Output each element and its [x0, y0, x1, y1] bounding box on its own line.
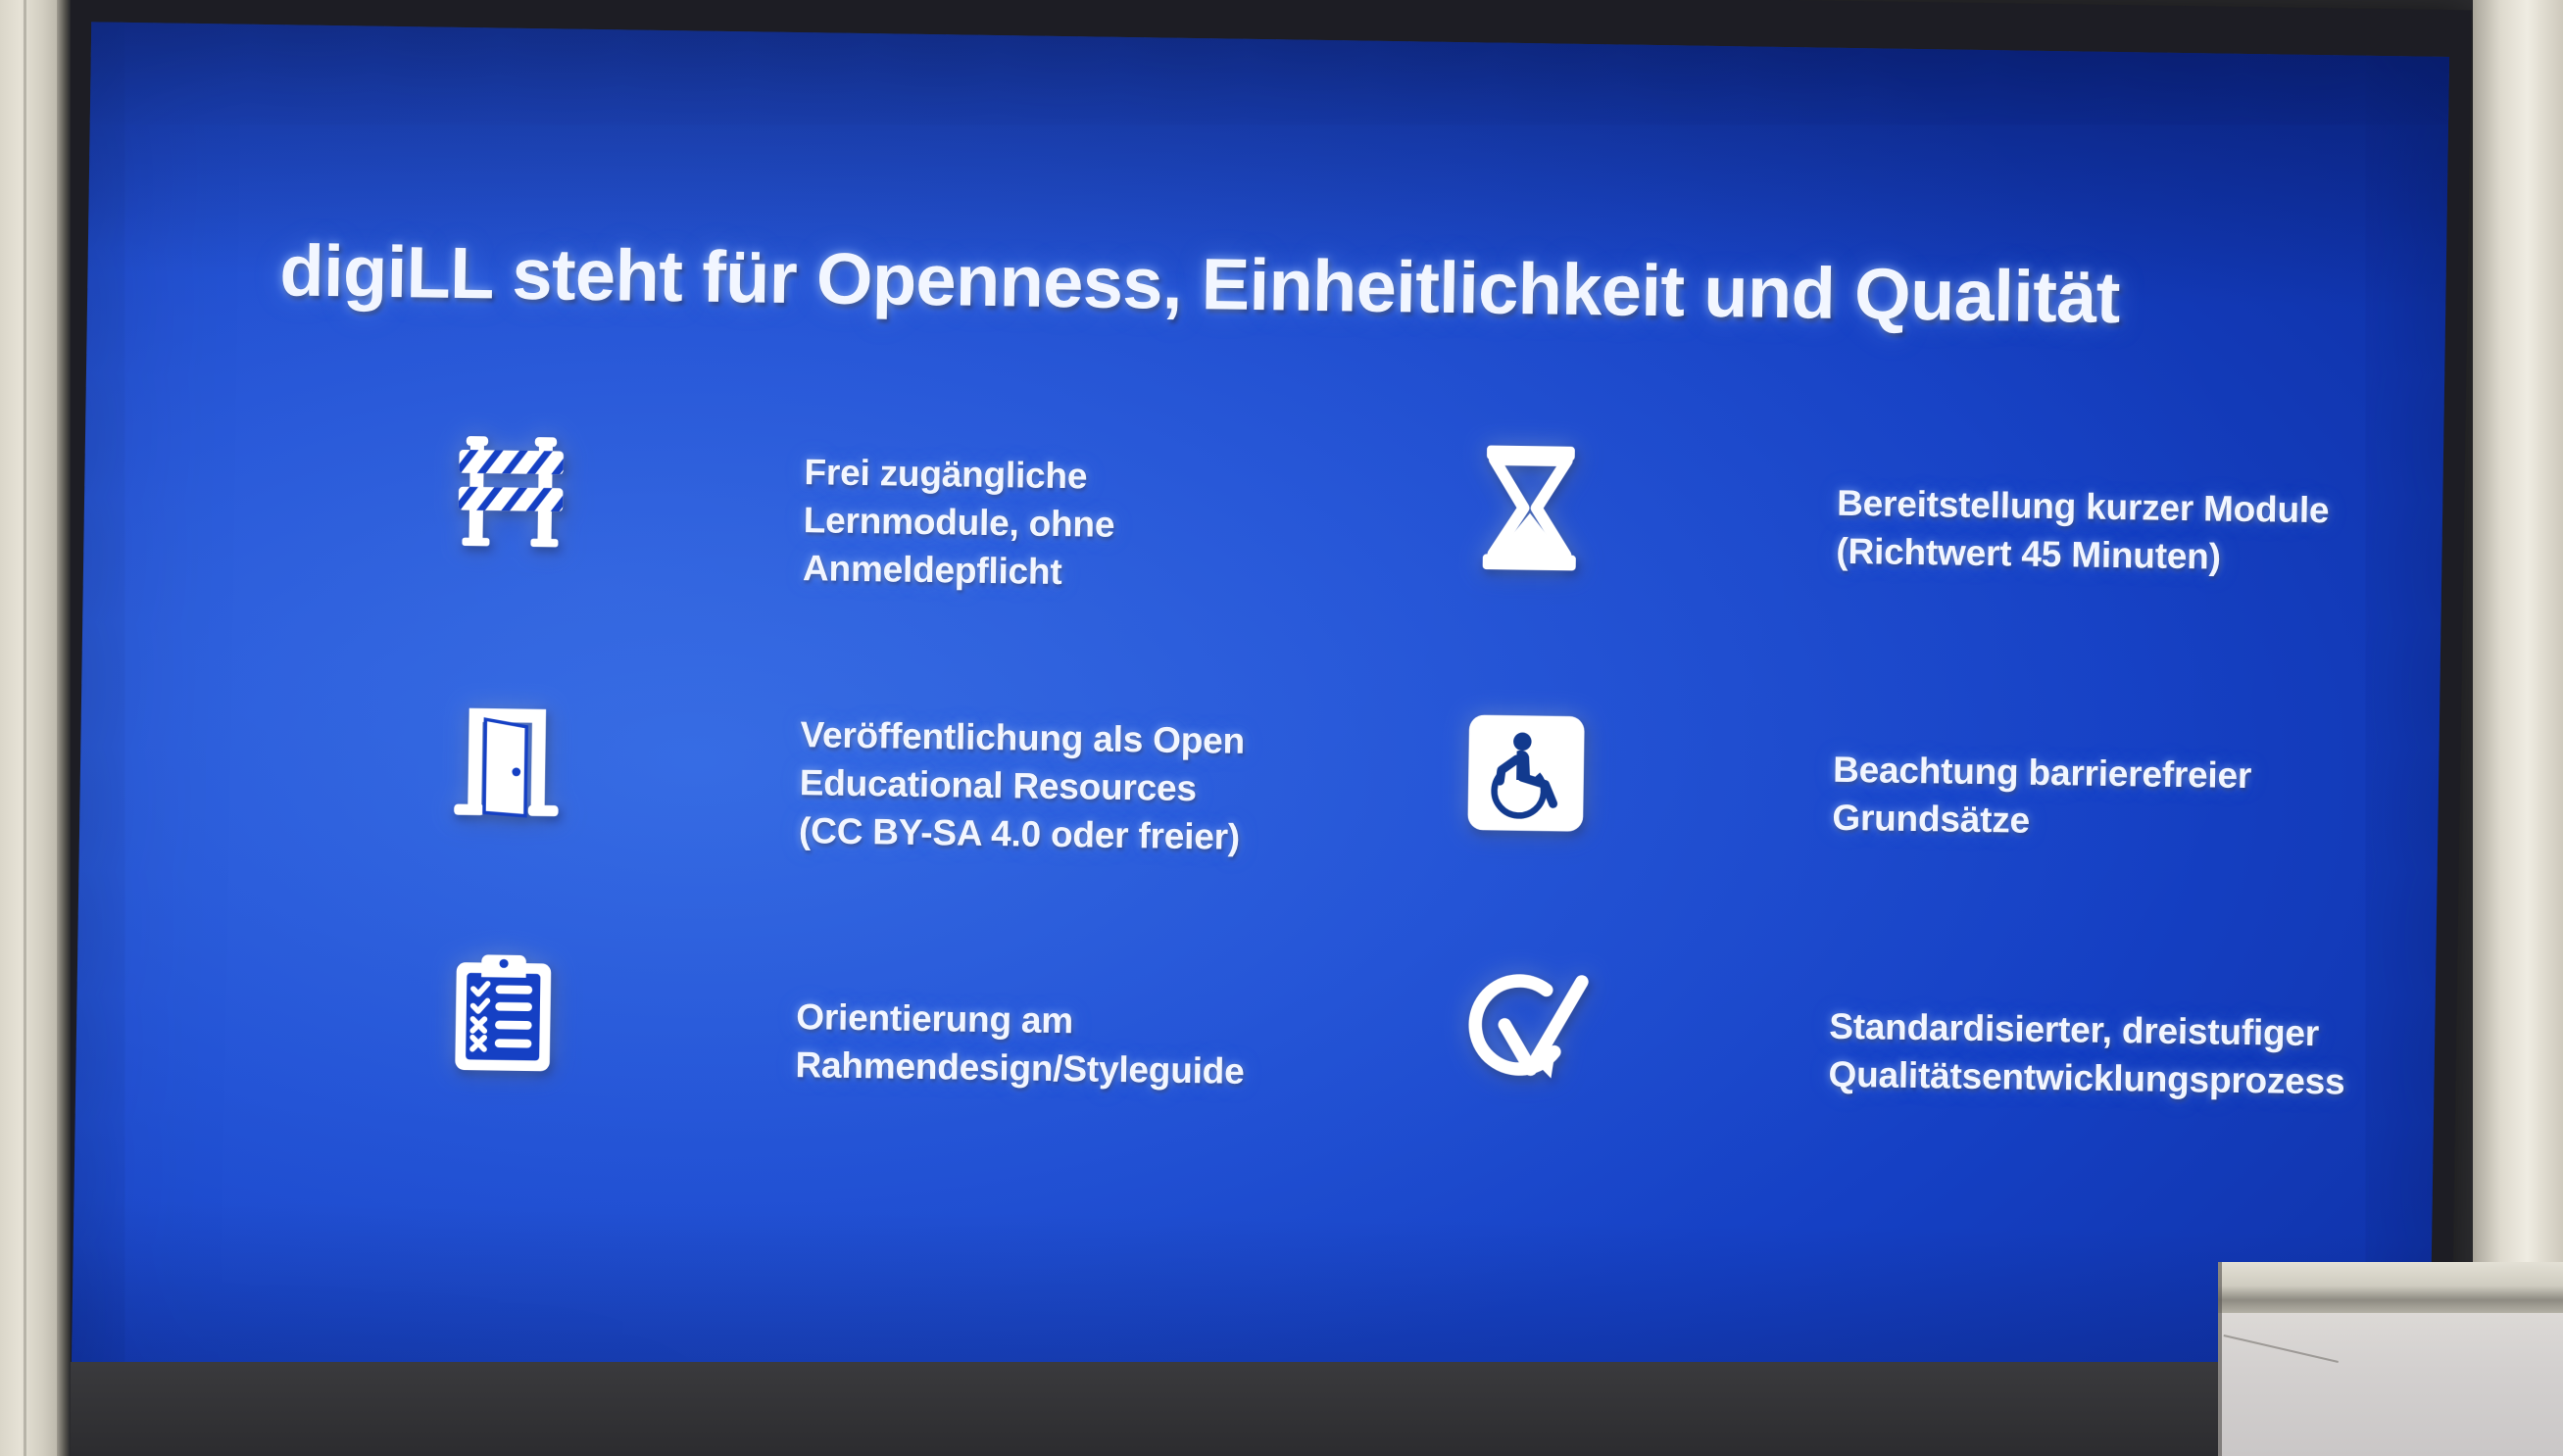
- wall-shadow-gap: [57, 0, 71, 1456]
- feature-item-orientierung-styleguide: Orientierung am Rahmendesign/Styleguide: [428, 939, 1246, 1097]
- feature-text: Orientierung am Rahmendesign/Styleguide: [795, 993, 1245, 1095]
- flipchart-rail: [2218, 1262, 2563, 1315]
- wall-right-strip: [2473, 0, 2563, 1456]
- clipboard-checklist-icon: [428, 939, 577, 1088]
- flipchart-left-edge: [2218, 1262, 2222, 1456]
- feature-item-qualitaetsprozess: Standardisierter, dreistufiger Qualitäts…: [1448, 953, 2346, 1114]
- feature-text: Bereitstellung kurzer Module (Richtwert …: [1836, 479, 2330, 583]
- feature-item-veroeffentlichung-oer: Veröffentlichung als Open Educational Re…: [432, 684, 1246, 862]
- projection-screen-frame: digiLL steht für Openness, Einheitlichke…: [49, 0, 2472, 1456]
- hourglass-icon: [1455, 432, 1604, 581]
- feature-item-kurze-module: Bereitstellung kurzer Module (Richtwert …: [1455, 432, 2330, 592]
- open-door-icon: [432, 684, 581, 833]
- flipchart-paper: [2218, 1313, 2563, 1456]
- feature-text: Beachtung barrierefreier Grundsätze: [1832, 746, 2251, 849]
- presentation-room-photo: digiLL steht für Openness, Einheitlichke…: [0, 0, 2563, 1456]
- feature-grid: Frei zugängliche Lernmodule, ohne Anmeld…: [71, 22, 2449, 1456]
- cycle-checkmark-icon: [1448, 953, 1597, 1102]
- wall-seam: [24, 0, 26, 1456]
- feature-item-frei-zugaengliche-lernmodule: Frei zugängliche Lernmodule, ohne Anmeld…: [436, 417, 1116, 598]
- feature-text: Veröffentlichung als Open Educational Re…: [799, 710, 1246, 861]
- wheelchair-accessibility-icon: [1452, 699, 1601, 848]
- barrier-icon: [436, 417, 585, 566]
- feature-text: Frei zugängliche Lernmodule, ohne Anmeld…: [803, 448, 1116, 597]
- wall-left-strip: [0, 0, 57, 1456]
- presentation-slide: digiLL steht für Openness, Einheitlichke…: [71, 22, 2449, 1456]
- feature-item-barrierefreiheit: Beachtung barrierefreier Grundsätze: [1452, 699, 2252, 857]
- wall-bottom-shadow: [0, 1362, 2563, 1456]
- feature-text: Standardisierter, dreistufiger Qualitäts…: [1828, 1002, 2345, 1106]
- flipchart-corner: [2218, 1262, 2563, 1456]
